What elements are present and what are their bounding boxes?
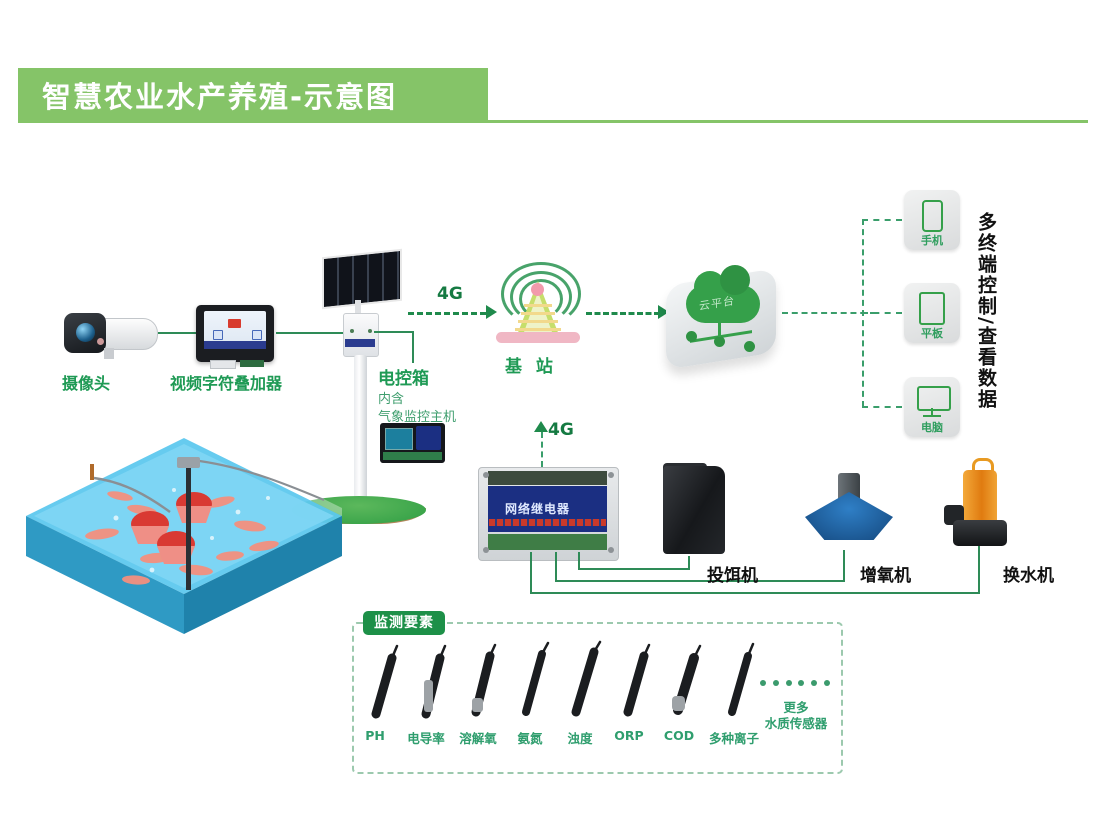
callout-controlbox-h [374,331,414,333]
link-bus-phone [862,219,902,221]
link-basestation-cloud [586,312,660,315]
link-overlay-controlbox [276,332,344,334]
feeder-label: 投饵机 [707,561,758,586]
wire-pump-v2 [978,546,980,594]
camera-label: 摄像头 [62,370,110,394]
sensor-label-conductivity: 电导率 [400,728,452,747]
arrow-relay-basestation [534,421,548,432]
sensor-label-orp: ORP [606,728,652,743]
control-box-label: 电控箱 [378,364,429,389]
monitor-stand [931,408,933,415]
desktop-computer-icon [917,386,951,411]
page-title: 智慧农业水产养殖-示意图 [42,80,472,114]
link-bus-tablet [862,312,902,314]
sensor-label-turbidity: 浊度 [556,728,604,747]
wire-pump-v1 [530,552,532,594]
wire-aerator-h [555,580,845,582]
pole-mast [354,355,367,508]
aerator-label: 增氧机 [860,561,911,586]
more-sensors-line2: 水质传感器 [746,716,846,732]
title-rule [488,120,1088,123]
label-4g-uplink: 4G [437,284,463,304]
link-4g-relay [541,432,543,467]
terminal-label-computer: 电脑 [904,419,960,435]
link-4g-uplink [408,312,486,315]
video-overlay-label: 视频字符叠加器 [170,370,282,394]
wire-pump-h [530,592,980,594]
link-bus-computer [862,406,902,408]
terminal-label-tablet: 平板 [904,325,960,341]
water-probe-cap [177,457,200,468]
terminals-side-text: 多终端控制/查看数据 [975,212,997,434]
sensor-probes-group [352,640,772,730]
wire-aerator-v1 [555,552,557,582]
more-sensors-line1: 更多 [760,700,832,716]
sensor-label-ammonia-nitrogen: 氨氮 [506,728,554,747]
sensor-label-dissolved-oxygen: 溶解氧 [452,728,504,747]
callout-controlbox-v [412,331,414,363]
diagram-canvas: 智慧农业水产养殖-示意图 摄像头 视频字符叠加器 电 [0,0,1105,834]
link-camera-overlay [158,332,198,334]
monitor-foot [923,415,941,417]
relay-screen-label: 网络继电器 [505,500,570,517]
more-sensors-dots [760,680,830,686]
mobile-phone-icon [922,200,943,232]
arrow-uplink-basestation [486,305,497,319]
wire-aerator-v2 [843,550,845,582]
sensor-panel-badge: 监测要素 [363,611,445,635]
sensor-label-cod: COD [656,728,702,743]
terminal-label-phone: 手机 [904,232,960,248]
control-box-sub1: 内含 [378,388,404,407]
sensor-label-ph: PH [352,728,398,743]
water-probe-rod [186,462,191,590]
base-station-label: 基 站 [505,352,557,377]
tablet-icon [919,292,945,325]
wire-feeder-v2 [688,556,690,570]
fish-pond-illustration [24,438,342,688]
water-pump-label: 换水机 [1003,561,1054,586]
label-4g-relay: 4G [548,420,574,440]
wire-feeder-h [578,568,690,570]
